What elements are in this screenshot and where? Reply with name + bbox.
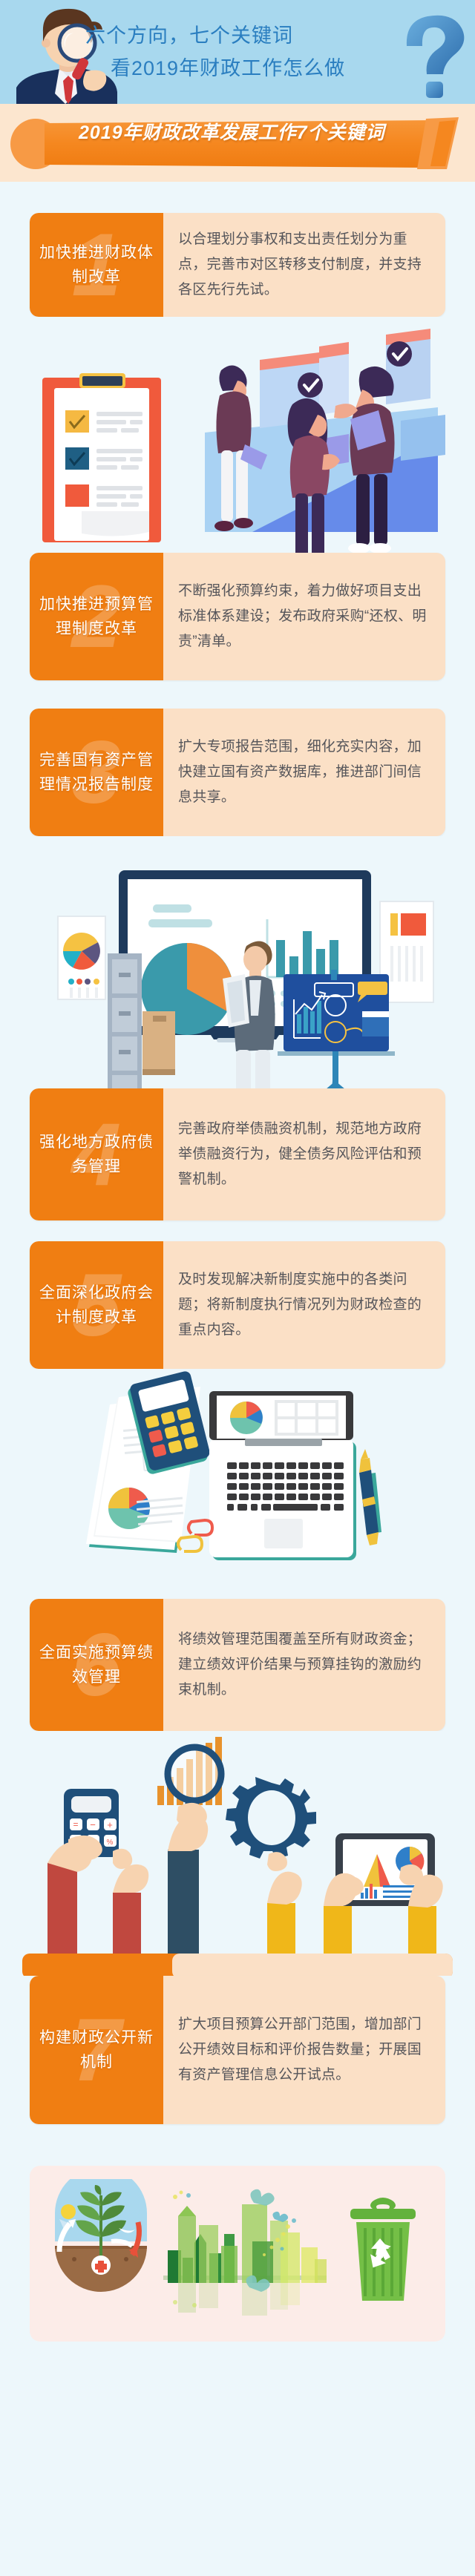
card-5-desc: 及时发现解决新制度实施中的各类问题；将新制度执行情况列为财政检查的重点内容。 [178,1267,432,1343]
file-cabinet-icon [104,953,147,1088]
card-7-title: 构建财政公开新机制 [30,2025,163,2074]
desk-accounting-illustration [0,1369,475,1599]
checklist-and-team-illustration [0,317,475,553]
card-3-desc: 扩大专项报告范围，细化充实内容，加快建立国有资产数据库，推进部门间信息共享。 [178,735,432,810]
hands-with-tools-illustration: = − + · / % [0,1731,475,1976]
plant-growth-icon [55,2179,147,2292]
keyword-card-5: 5 全面深化政府会计制度改革 及时发现解决新制度实施中的各类问题；将新制度执行情… [30,1241,445,1369]
svg-text:+: + [107,1819,113,1830]
card-3-title: 完善国有资产管理情况报告制度 [30,748,163,797]
clipboard-checklist-icon [42,373,161,542]
card-6-desc: 将绩效管理范围覆盖至所有财政资金；建立绩效评价结果与预算挂钩的激励约束机制。 [178,1627,432,1703]
header-title-line1: 六个方向，七个关键词 [85,24,293,47]
keyword-card-4: 4 强化地方政府债务管理 完善政府举债融资机制，规范地方政府举债融资行为，健全债… [30,1088,445,1220]
svg-text:=: = [73,1819,78,1830]
pie-chart-icon [58,916,105,999]
green-eco-illustration [30,2166,445,2342]
card-6-number-panel: 6 全面实施预算绩效管理 [30,1599,163,1731]
keyword-card-7: 7 构建财政公开新机制 扩大项目预算公开部门范围，增加部门公开绩效目标和评价报告… [30,1976,445,2124]
header-title: 六个方向，七个关键词 看2019年财政工作怎么做 [85,19,345,85]
card-4-title: 强化地方政府债务管理 [30,1130,163,1179]
card-3-number-panel: 3 完善国有资产管理情况报告制度 [30,709,163,836]
card-2-number-panel: 2 加快推进预算管理制度改革 [30,553,163,680]
card-4-desc-panel: 完善政府举债融资机制，规范地方政府举债融资行为，健全债务风险评估和预警机制。 [163,1088,445,1220]
card-7-desc-panel: 扩大项目预算公开部门范围，增加部门公开绩效目标和评价报告数量；开展国有资产管理信… [163,1976,445,2124]
banner-title: 2019年财政改革发展工作7个关键词 [79,118,385,145]
keyword-card-3: 3 完善国有资产管理情况报告制度 扩大专项报告范围，细化充实内容，加快建立国有资… [30,709,445,836]
svg-text:−: − [90,1819,96,1830]
card-4-number-panel: 4 强化地方政府债务管理 [30,1088,163,1220]
page-header: 六个方向，七个关键词 看2019年财政工作怎么做 [0,0,475,104]
card-2-desc-panel: 不断强化预算约束，着力做好项目支出标准体系建设；发布政府采购“还权、明责”清单。 [163,553,445,680]
card-2-title: 加快推进预算管理制度改革 [30,592,163,641]
box-icon [142,1011,175,1075]
banner-section: 2019年财政改革发展工作7个关键词 [0,104,475,182]
card-3-desc-panel: 扩大专项报告范围，细化充实内容，加快建立国有资产数据库，推进部门间信息共享。 [163,709,445,836]
card-5-number-panel: 5 全面深化政府会计制度改革 [30,1241,163,1369]
card-5-desc-panel: 及时发现解决新制度实施中的各类问题；将新制度执行情况列为财政检查的重点内容。 [163,1241,445,1369]
header-title-line2: 看2019年财政工作怎么做 [111,52,345,85]
data-presentation-illustration [0,836,475,1088]
card-1-desc: 以合理划分事权和支出责任划分为重点，完善市对区转移支付制度，并支持各区先行先试。 [178,227,432,303]
laptop-topview-icon [209,1391,356,1560]
card-7-number-panel: 7 构建财政公开新机制 [30,1976,163,2124]
card-2-desc: 不断强化预算约束，着力做好项目支出标准体系建设；发布政府采购“还权、明责”清单。 [178,579,432,654]
keyword-card-6: 6 全面实施预算绩效管理 将绩效管理范围覆盖至所有财政资金；建立绩效评价结果与预… [30,1599,445,1731]
card-1-desc-panel: 以合理划分事权和支出责任划分为重点，完善市对区转移支付制度，并支持各区先行先试。 [163,213,445,317]
svg-text:%: % [107,1839,114,1847]
card-1-number-panel: 1 加快推进财政体制改革 [30,213,163,317]
card-6-desc-panel: 将绩效管理范围覆盖至所有财政资金；建立绩效评价结果与预算挂钩的激励约束机制。 [163,1599,445,1731]
keyword-card-1: 1 加快推进财政体制改革 以合理划分事权和支出责任划分为重点，完善市对区转移支付… [30,213,445,317]
spacer [0,680,475,709]
card-7-desc: 扩大项目预算公开部门范围，增加部门公开绩效目标和评价报告数量；开展国有资产管理信… [178,2012,432,2088]
card-5-title: 全面深化政府会计制度改革 [30,1281,163,1330]
card-4-desc: 完善政府举债融资机制，规范地方政府举债融资行为，健全债务风险评估和预警机制。 [178,1117,432,1192]
keyword-card-2: 2 加快推进预算管理制度改革 不断强化预算约束，着力做好项目支出标准体系建设；发… [30,553,445,680]
spacer [0,1220,475,1241]
infographic-page: 六个方向，七个关键词 看2019年财政工作怎么做 2019年财政改革发展工作7个… [0,0,475,2576]
card-1-title: 加快推进财政体制改革 [30,240,163,289]
spacer [0,182,475,213]
spacer [0,2124,475,2166]
card-6-title: 全面实施预算绩效管理 [30,1640,163,1689]
